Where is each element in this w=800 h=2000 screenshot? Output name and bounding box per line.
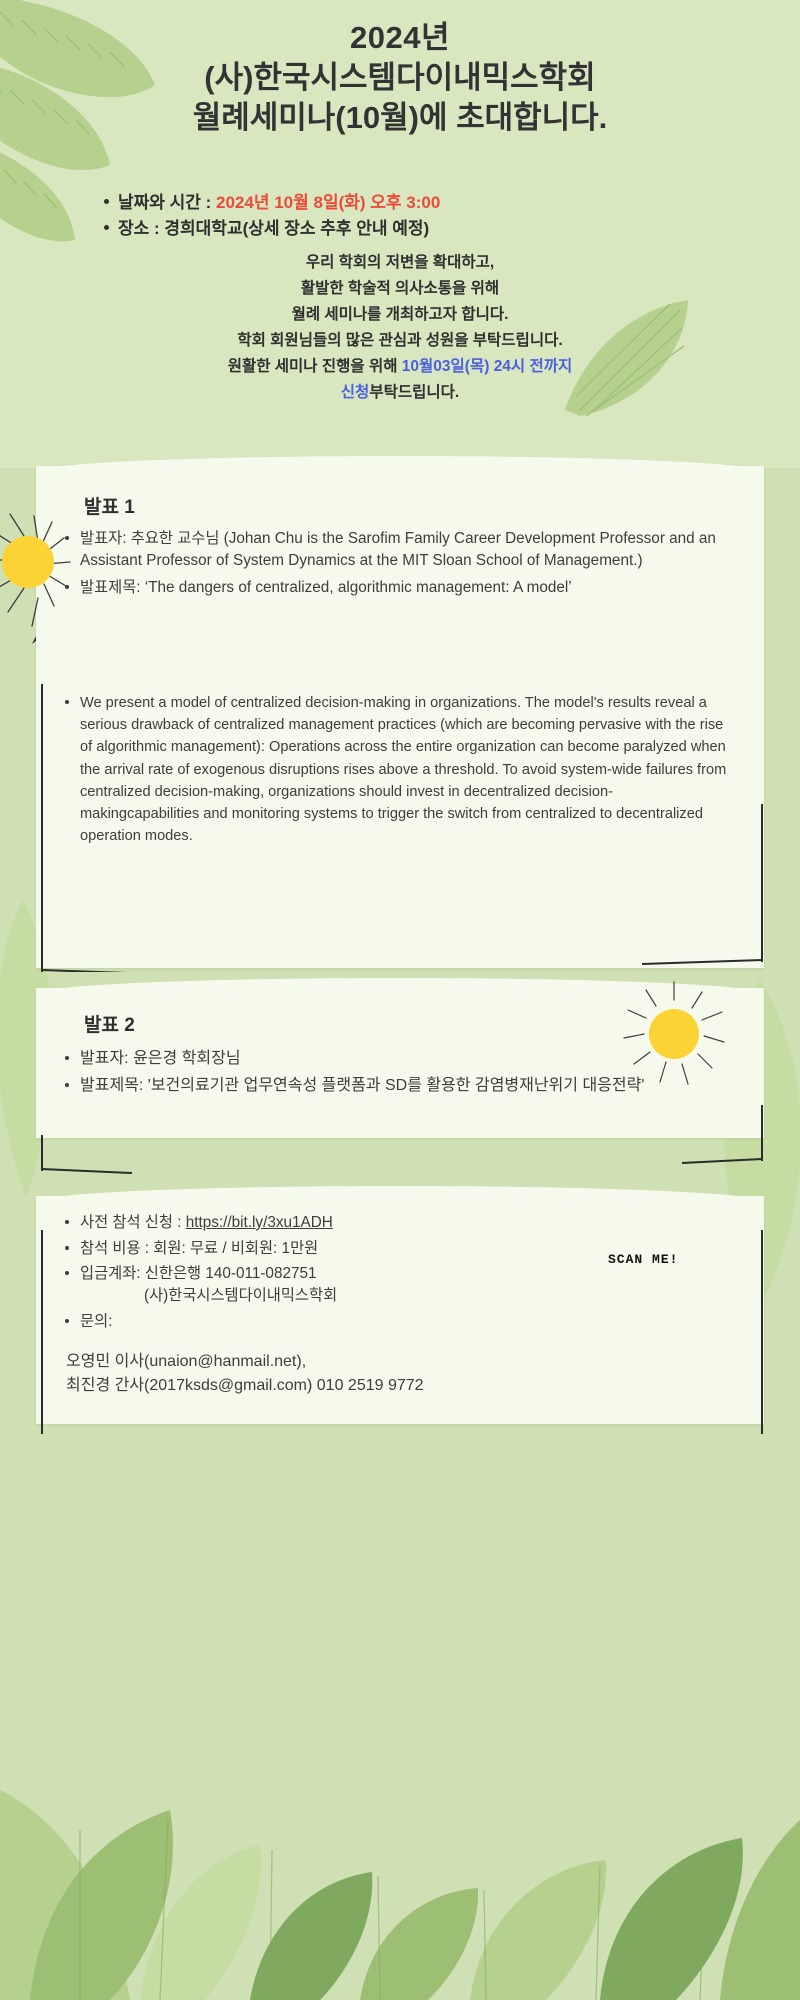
- title-line-1: 2024년: [0, 18, 800, 58]
- datetime-label: 날짜와 시간 :: [118, 193, 216, 212]
- intro-line5-prefix: 원활한 세미나 진행을 위해: [228, 358, 402, 375]
- poster-page: 2024년 (사)한국시스템다이내믹스학회 월례세미나(10월)에 초대합니다.…: [0, 0, 800, 2000]
- intro-deadline-highlight: 10월03일(목) 24시 전까지: [402, 358, 572, 375]
- title-line-3: 월례세미나(10월)에 초대합니다.: [0, 98, 800, 138]
- card1-corner-marks: [20, 452, 780, 972]
- info-item-datetime: 날짜와 시간 : 2024년 10월 8일(화) 오후 3:00: [104, 190, 800, 216]
- intro-line-1: 우리 학회의 저변을 확대하고,: [0, 250, 800, 276]
- place-value: 경희대학교(상세 장소 추후 안내 예정): [164, 219, 429, 238]
- intro-line-6: 신청부탁드립니다.: [0, 380, 800, 406]
- intro-line-4: 학회 회원님들의 많은 관심과 성원을 부탁드립니다.: [0, 328, 800, 354]
- card3-corner-marks: [20, 1190, 780, 1450]
- intro-paragraph: 우리 학회의 저변을 확대하고, 활발한 학술적 의사소통을 위해 월례 세미나…: [0, 250, 800, 406]
- intro-line-3: 월례 세미나를 개최하고자 합니다.: [0, 302, 800, 328]
- intro-line-5: 원활한 세미나 진행을 위해 10월03일(목) 24시 전까지: [0, 354, 800, 380]
- info-item-place: 장소 : 경희대학교(상세 장소 추후 안내 예정): [104, 216, 800, 242]
- intro-line-2: 활발한 학술적 의사소통을 위해: [0, 276, 800, 302]
- title-line-2: (사)한국시스템다이내믹스학회: [0, 58, 800, 98]
- intro-line6-suffix: 부탁드립니다.: [369, 384, 459, 401]
- datetime-value: 2024년 10월 8일(화) 오후 3:00: [216, 193, 440, 212]
- scan-me-caption: SCAN ME!: [608, 1252, 678, 1267]
- place-label: 장소 :: [118, 219, 164, 238]
- event-info: 날짜와 시간 : 2024년 10월 8일(화) 오후 3:00 장소 : 경희…: [0, 190, 800, 243]
- card2-corner-marks: [20, 985, 780, 1175]
- poster-header: 2024년 (사)한국시스템다이내믹스학회 월례세미나(10월)에 초대합니다.: [0, 18, 800, 138]
- intro-apply-highlight: 신청: [341, 384, 370, 401]
